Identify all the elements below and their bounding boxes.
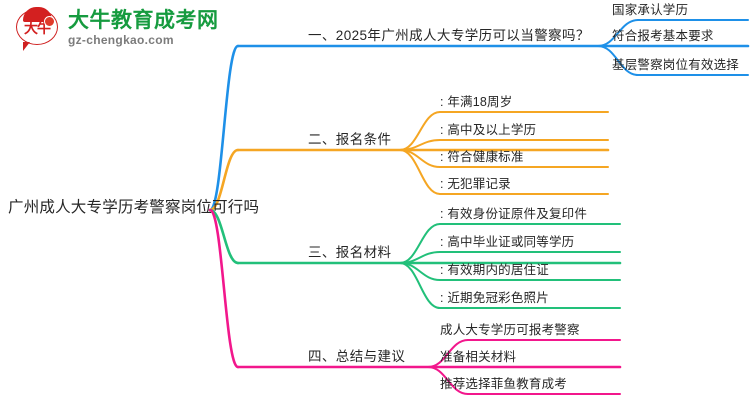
- mindmap-leaf-node-2-2[interactable]: : 高中及以上学历: [440, 124, 536, 137]
- mindmap-leaf-node-3-3[interactable]: : 有效期内的居住证: [440, 264, 549, 277]
- mindmap-branch-node-3[interactable]: 三、报名材料: [308, 246, 391, 260]
- mindmap-leaf-node-3-2[interactable]: : 高中毕业证或同等学历: [440, 236, 574, 249]
- mindmap-leaf-node-3-1[interactable]: : 有效身份证原件及复印件: [440, 208, 587, 221]
- mindmap-canvas: 大牛 大牛教育成考网 gz-chengkao.com 广州成人大专学历考警察岗位…: [0, 0, 750, 410]
- mindmap-leaf-node-1-3[interactable]: 基层警察岗位有效选择: [612, 59, 739, 72]
- mindmap-leaf-node-2-1[interactable]: : 年满18周岁: [440, 96, 512, 109]
- mindmap-leaf-node-4-3[interactable]: 推荐选择菲鱼教育成考: [440, 378, 567, 391]
- mindmap-branch-node-2[interactable]: 二、报名条件: [308, 133, 391, 147]
- mindmap-leaf-node-1-2[interactable]: 符合报考基本要求: [612, 30, 714, 43]
- mindmap-leaf-node-4-2[interactable]: 准备相关材料: [440, 351, 516, 364]
- mindmap-root-node[interactable]: 广州成人大专学历考警察岗位可行吗: [8, 200, 259, 216]
- mindmap-leaf-node-2-3[interactable]: : 符合健康标准: [440, 151, 524, 164]
- mindmap-leaf-node-2-4[interactable]: : 无犯罪记录: [440, 178, 511, 191]
- mindmap-leaf-node-4-1[interactable]: 成人大专学历可报考警察: [440, 324, 580, 337]
- mindmap-leaf-node-3-4[interactable]: : 近期免冠彩色照片: [440, 292, 549, 305]
- mindmap-leaf-node-1-1[interactable]: 国家承认学历: [612, 4, 688, 17]
- mindmap-branch-node-1[interactable]: 一、2025年广州成人大专学历可以当警察吗？: [308, 29, 590, 43]
- mindmap-branch-node-4[interactable]: 四、总结与建议: [308, 350, 405, 364]
